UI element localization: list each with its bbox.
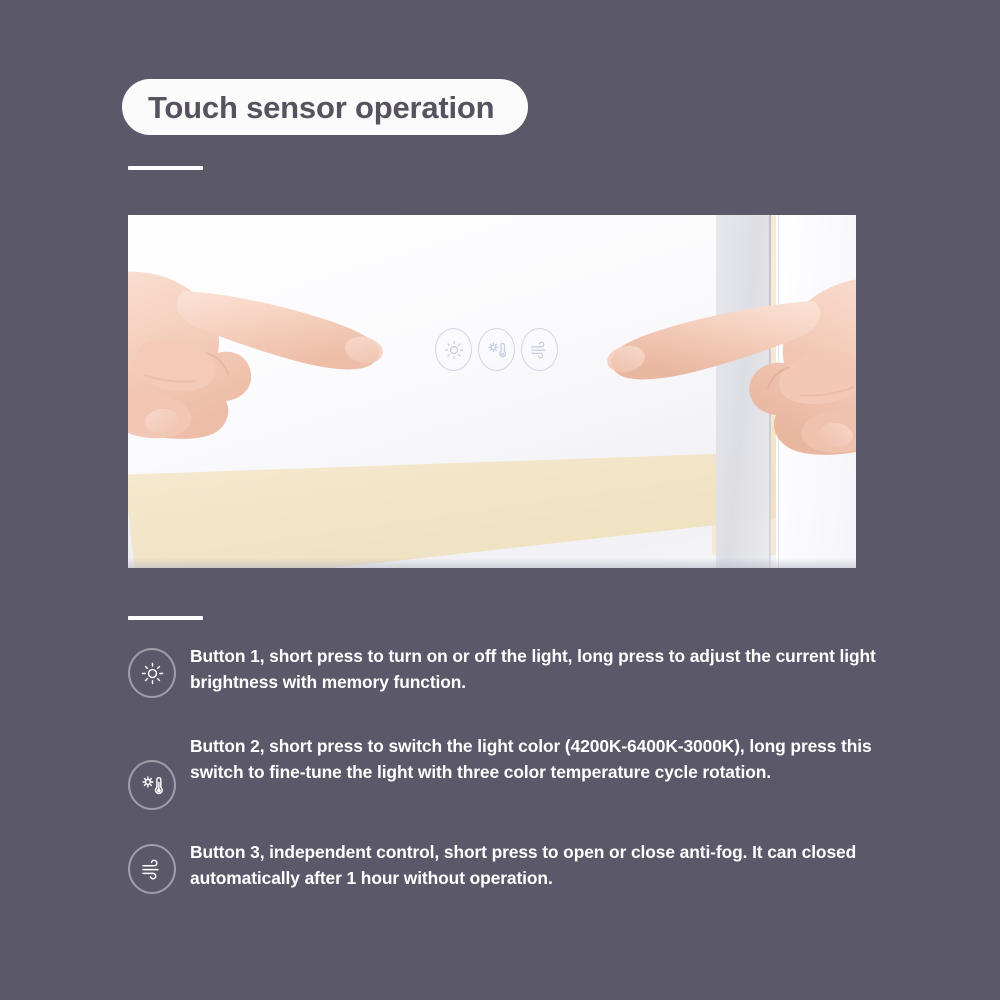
list-item-label: Button 2, short press to switch the ligh… bbox=[190, 734, 898, 785]
list-item-label: Button 3, independent control, short pre… bbox=[190, 840, 898, 891]
sun-brightness-icon bbox=[128, 648, 176, 698]
brightness-touch-button[interactable] bbox=[435, 328, 472, 371]
color-temperature-touch-button[interactable] bbox=[478, 328, 515, 371]
mirror-bottom-lip bbox=[128, 558, 856, 568]
instruction-list: Button 1, short press to turn on or off … bbox=[128, 644, 898, 894]
list-item-label: Button 1, short press to turn on or off … bbox=[190, 644, 898, 695]
product-photo bbox=[128, 215, 856, 568]
list-item: Button 1, short press to turn on or off … bbox=[128, 644, 898, 698]
page-title-pill: Touch sensor operation bbox=[122, 79, 528, 135]
wind-anti-fog-icon bbox=[128, 844, 176, 894]
thermometer-sun-icon bbox=[486, 339, 508, 361]
touch-sensor-icon-group bbox=[435, 328, 558, 371]
thermometer-color-temperature-icon bbox=[128, 760, 176, 810]
list-item: Button 3, independent control, short pre… bbox=[128, 840, 898, 894]
divider-middle bbox=[128, 616, 203, 620]
photo-scene bbox=[128, 215, 856, 568]
page-title: Touch sensor operation bbox=[148, 92, 494, 123]
right-hand-pointing bbox=[558, 257, 856, 507]
wind-icon bbox=[529, 339, 551, 361]
divider-top bbox=[128, 166, 203, 170]
sun-icon bbox=[443, 339, 465, 361]
list-item: Button 2, short press to switch the ligh… bbox=[128, 734, 898, 810]
left-hand-pointing bbox=[128, 245, 414, 495]
anti-fog-touch-button[interactable] bbox=[521, 328, 558, 371]
